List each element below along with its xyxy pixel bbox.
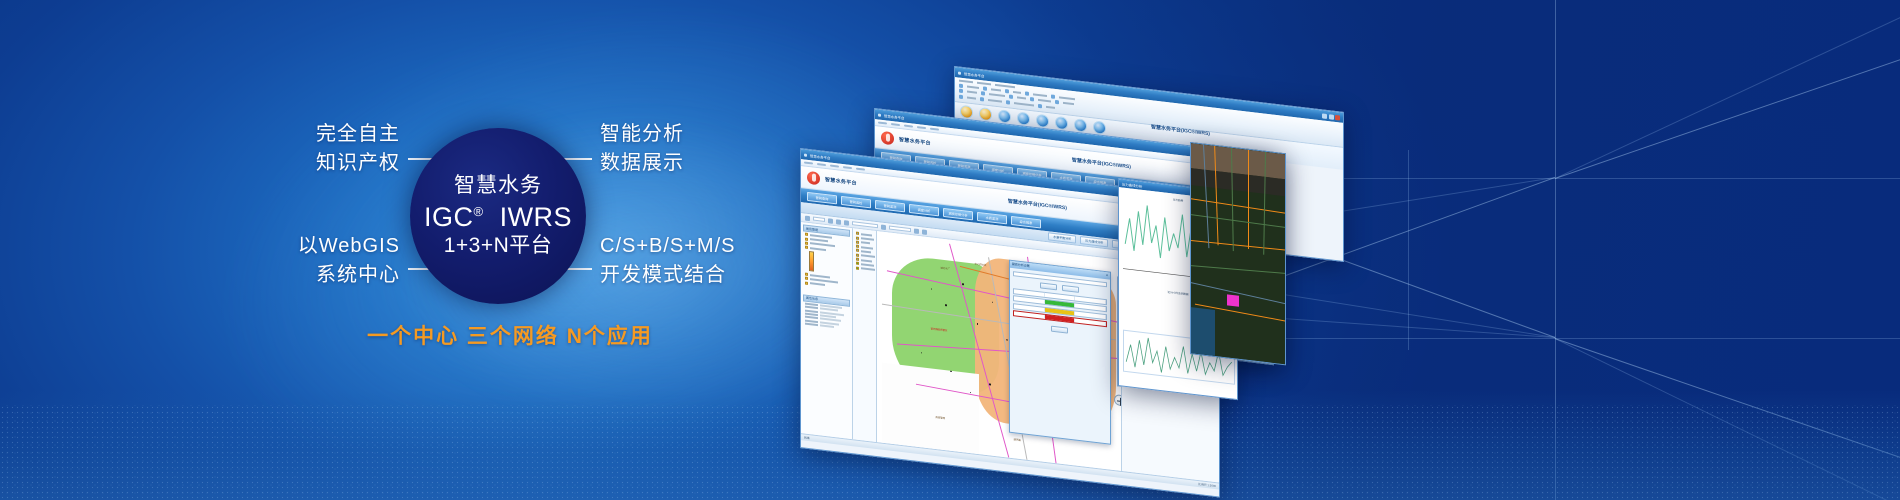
status-left: 就绪: [804, 435, 810, 440]
menu-view[interactable]: [904, 124, 913, 128]
sat-street-0: [1191, 215, 1285, 230]
status-right: 比例尺 1:5000: [1198, 482, 1216, 488]
menu-edit[interactable]: [891, 123, 900, 127]
feature-bottom-right-line2: 开发模式结合: [600, 261, 820, 290]
close-icon[interactable]: [1335, 114, 1340, 120]
minimize-icon[interactable]: [1322, 113, 1327, 119]
tool-palette[interactable]: [853, 228, 877, 442]
middle-window-header: 智慧水务平台(IGC®IWRS): [1072, 156, 1131, 170]
feature-bottom-right-line1: C/S+B/S+M/S: [600, 232, 820, 261]
scale-select[interactable]: [813, 217, 825, 222]
feature-top-right: 智能分析 数据展示: [600, 120, 820, 178]
hub-title: 智慧水务: [454, 174, 542, 197]
analysis-icon: [1036, 114, 1049, 129]
feature-top-right-line2: 数据展示: [600, 149, 820, 178]
feature-top-right-line1: 智能分析: [600, 120, 820, 149]
front-window-header: 智慧水务平台(IGC®IWRS): [1008, 198, 1067, 212]
brand-name: 智慧水务平台: [899, 136, 931, 147]
identify-icon[interactable]: [844, 220, 849, 226]
feature-bottom-left-line2: 系统中心: [200, 261, 400, 290]
menu-file[interactable]: [804, 161, 813, 165]
feature-bottom-right: C/S+B/S+M/S 开发模式结合: [600, 232, 820, 290]
nav-item-5[interactable]: 水质监测: [977, 211, 1007, 224]
satellite-water-body: [1191, 307, 1215, 356]
dialog-close-icon[interactable]: ✕: [1106, 273, 1109, 277]
concept-diagram: 智慧水务 IGC® IWRS 1+3+N平台 完全自主 知识产权 以WebGIS…: [0, 0, 820, 500]
feature-top-left-line1: 完全自主: [200, 120, 400, 149]
window-satellite[interactable]: [1190, 142, 1286, 365]
menu-favorites[interactable]: [843, 166, 852, 170]
gis-config-icon: [1093, 120, 1106, 135]
hub-circle: 智慧水务 IGC® IWRS 1+3+N平台: [410, 128, 586, 304]
menu-tools[interactable]: [856, 167, 865, 171]
legend-color-ramp: [809, 251, 814, 272]
company-logo-icon: [807, 171, 820, 186]
menu-tools[interactable]: [930, 127, 939, 131]
pan-icon[interactable]: [805, 215, 810, 221]
layer-select[interactable]: [852, 221, 878, 228]
feature-bottom-left: 以WebGIS 系统中心: [200, 232, 400, 290]
satellite-highlight-marker[interactable]: [1227, 294, 1239, 306]
hub-product-name: IGC® IWRS: [424, 203, 572, 231]
registered-icon: ®: [473, 204, 483, 219]
menu-file[interactable]: [878, 121, 887, 125]
dialog-body: [1010, 267, 1110, 342]
feature-bottom-left-line1: 以WebGIS: [200, 232, 400, 261]
dispatch-icon: [998, 109, 1011, 124]
inspection-icon: [979, 107, 992, 122]
assets-icon: [960, 105, 973, 120]
feature-top-left: 完全自主 知识产权: [200, 120, 400, 178]
layer-panel[interactable]: 图层管理 属性信息: [801, 222, 853, 439]
zoom-out-icon[interactable]: [836, 219, 841, 225]
screenshot-stack: 智慧水务平台: [790, 0, 1350, 500]
tagline: 一个中心 三个网络 N个应用: [200, 320, 820, 350]
feature-top-left-line2: 知识产权: [200, 149, 400, 178]
sat-street-1: [1191, 265, 1285, 274]
sat-road-1: [1191, 239, 1285, 251]
nav-item-0[interactable]: 管网查询: [807, 191, 837, 204]
leak-analysis-dialog[interactable]: 漏损分析设置 ✕: [1009, 259, 1111, 444]
nav-item-2[interactable]: 管网监测: [875, 199, 905, 212]
dialog-apply-button[interactable]: [1051, 326, 1068, 334]
company-logo-icon: [881, 131, 894, 146]
map-zone-blank: [882, 362, 980, 454]
monitor-icon: [1017, 111, 1030, 126]
app-icon: [958, 71, 961, 74]
banner-stage: 智慧水务 IGC® IWRS 1+3+N平台 完全自主 知识产权 以WebGIS…: [0, 0, 1900, 500]
hub-platform: 1+3+N平台: [444, 234, 553, 258]
menu-edit[interactable]: [817, 163, 826, 167]
hub-igc: IGC: [424, 202, 474, 232]
window-controls[interactable]: [1322, 113, 1340, 120]
print-icon[interactable]: [914, 228, 919, 234]
menu-view[interactable]: [830, 164, 839, 168]
dialog-cancel-button[interactable]: [1062, 285, 1079, 293]
water-quality-icon: [1074, 118, 1087, 133]
map-pan-navpad[interactable]: [1114, 394, 1121, 406]
nav-item-1[interactable]: 管网巡检: [841, 195, 871, 208]
satellite-map-canvas[interactable]: [1191, 143, 1285, 364]
palette-item-8[interactable]: [856, 266, 875, 271]
export-icon[interactable]: [922, 229, 927, 235]
app-icon: [878, 113, 881, 116]
hub-iwrs: IWRS: [500, 202, 573, 232]
measure-icon[interactable]: [881, 224, 886, 230]
nav-item-4[interactable]: 漏损控制分析: [943, 207, 973, 220]
alarm-icon: [1055, 116, 1068, 131]
maximize-icon[interactable]: [1329, 114, 1334, 120]
brand-name: 智慧水务平台: [825, 176, 857, 187]
gis-map-canvas[interactable]: 城北水厂 中心供水区 东部新区 管网漏损预警区 南部管网 西环路 漏损分析设置 …: [877, 231, 1121, 471]
zoom-in-icon[interactable]: [828, 218, 833, 224]
nav-item-6[interactable]: 综合报表: [1011, 215, 1041, 228]
query-select[interactable]: [889, 226, 911, 233]
map-label-4: 西环路: [1014, 437, 1021, 442]
app-icon: [804, 153, 807, 156]
dialog-ok-button[interactable]: [1040, 282, 1057, 290]
nav-item-3[interactable]: 调度分析: [909, 203, 939, 216]
menu-favorites[interactable]: [917, 126, 926, 130]
